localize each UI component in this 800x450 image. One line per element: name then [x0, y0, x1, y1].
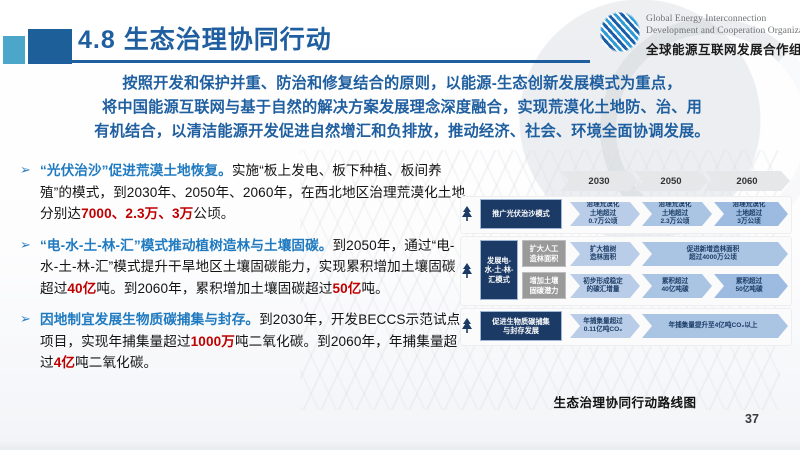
bullet-text: “电-水-土-林-汇”模式推动植树造林与土壤固碳。到2050年，通过“电-水-土…	[40, 235, 466, 300]
diagram-timeline: 2030 2050 2060	[458, 168, 792, 194]
row3-nav-label: 促进生物质碳捕集 与封存发展	[480, 311, 562, 341]
slide-canvas: 4.8 生态治理协同行动 Global Energy Interconnecti…	[0, 0, 800, 450]
bullet-segment-num: 4亿	[54, 355, 75, 370]
tree-icon	[460, 318, 474, 334]
timeline-2050: 2050	[634, 171, 708, 191]
bullet-segment-normal: 吨二氧化碳。	[75, 355, 157, 370]
bullet-item-3: ➢因地制宜发展生物质碳捕集与封存。到2030年，开发BECCS示范试点项目，实现…	[16, 309, 466, 374]
row2-bottom-step-1: 初步形成稳定 的碳汇增量	[570, 274, 640, 298]
bullet-list: ➢“光伏治沙”促进荒漠土地恢复。实施“板上发电、板下种植、板间养殖”的模式，到2…	[16, 160, 466, 384]
bullet-arrow-icon: ➢	[20, 237, 31, 253]
page-title: 4.8 生态治理协同行动	[78, 20, 332, 56]
bullet-segment-num: 40亿	[67, 281, 96, 296]
timeline-2030: 2030	[560, 171, 638, 191]
diagram-caption: 生态治理协同行动路线图	[458, 392, 792, 411]
bullet-text: 因地制宜发展生物质碳捕集与封存。到2030年，开发BECCS示范试点项目，实现年…	[40, 309, 466, 374]
header-underline	[30, 60, 590, 63]
timeline-2060: 2060	[704, 171, 790, 191]
roadmap-diagram: 2030 2050 2060 推广光伏治沙模式 治理荒漠化 土地超过 0.7万公…	[458, 168, 792, 390]
bullet-segment-hi: “电-水-土-林-汇”模式推动植树造林与土壤固碳。	[40, 238, 332, 253]
bullet-item-1: ➢“光伏治沙”促进荒漠土地恢复。实施“板上发电、板下种植、板间养殖”的模式，到2…	[16, 160, 466, 225]
organization-logo: Global Energy Interconnection Developmen…	[600, 8, 796, 58]
bullet-segment-num: 50亿	[332, 281, 361, 296]
row2-subnav-top: 扩大人工 造林面积	[522, 240, 566, 267]
row2-bottom-step-3: 累积超过 50亿吨碳	[714, 274, 788, 298]
bullet-segment-normal: 吨。	[361, 281, 388, 296]
row2-subnav-bottom: 增加土壤 固碳潜力	[522, 272, 566, 299]
bullet-text: “光伏治沙”促进荒漠土地恢复。实施“板上发电、板下种植、板间养殖”的模式，到20…	[40, 160, 466, 225]
bullet-arrow-icon: ➢	[20, 311, 31, 327]
bullet-segment-hi: “光伏治沙”促进荒漠土地恢复。	[40, 163, 232, 178]
row2-bottom-step-2: 累积超过 40亿吨碳	[642, 274, 712, 298]
globe-logo-icon	[600, 12, 640, 52]
row1-nav-label: 推广光伏治沙模式	[480, 199, 562, 229]
page-number: 37	[745, 412, 759, 426]
header-accent-square-cyan	[3, 36, 25, 64]
row2-top-step-1: 扩大植树 造林面积	[570, 242, 640, 266]
bullet-arrow-icon: ➢	[20, 162, 31, 178]
lead-line-1: 按照开发和保护并重、防治和修复结合的原则，以能源-生态创新发展模式为重点，	[28, 72, 776, 96]
bullet-item-2: ➢“电-水-土-林-汇”模式推动植树造林与土壤固碳。到2050年，通过“电-水-…	[16, 235, 466, 300]
row3-step-2060: 年捕集量提升至4亿吨CO₂以上	[642, 314, 788, 338]
tree-icon	[460, 206, 474, 222]
header-accent-square-blue	[28, 29, 72, 64]
row1-step-2050: 治理荒漠化 土地超过 2.3万公顷	[642, 202, 712, 226]
bullet-segment-num: 1000万	[191, 334, 235, 349]
tree-icon	[460, 263, 474, 279]
row2-nav-label: 发展电- 水-土-林- 汇模式	[480, 240, 518, 300]
logo-chinese-name: 全球能源互联网发展合作组织	[646, 39, 800, 58]
logo-english-line-2: Development and Cooperation Organization	[646, 26, 800, 36]
row1-step-2060: 治理荒漠化 土地超过 3万公顷	[714, 202, 788, 226]
slide-header: 4.8 生态治理协同行动 Global Energy Interconnecti…	[0, 0, 800, 66]
bullet-segment-hi: 因地制宜发展生物质碳捕集与封存。	[40, 312, 259, 327]
lead-paragraph: 按照开发和保护并重、防治和修复结合的原则，以能源-生态创新发展模式为重点， 将中…	[28, 72, 776, 144]
row3-step-2030: 年捕集量超过 0.11亿吨CO₂	[570, 314, 640, 338]
lead-line-3: 有机结合，以清洁能源开发促进自然增汇和负排放，推动经济、社会、环境全面协调发展。	[28, 120, 776, 144]
bullet-segment-normal: 公顷。	[193, 206, 234, 221]
slide-bottom-strip	[0, 442, 800, 450]
bullet-segment-num: 7000、2.3万、3万	[81, 206, 193, 221]
logo-english-line-1: Global Energy Interconnection	[646, 14, 766, 24]
row2-top-step-2: 促进新增造林面积 超过4000万公顷	[642, 242, 788, 266]
lead-line-2: 将中国能源互联网与基于自然的解决方案发展理念深度融合，实现荒漠化土地防、治、用	[28, 96, 776, 120]
row1-step-2030: 治理荒漠化 土地超过 0.7万公顷	[570, 202, 640, 226]
bullet-segment-normal: 吨。到2060年，累积增加土壤固碳超过	[96, 281, 332, 296]
